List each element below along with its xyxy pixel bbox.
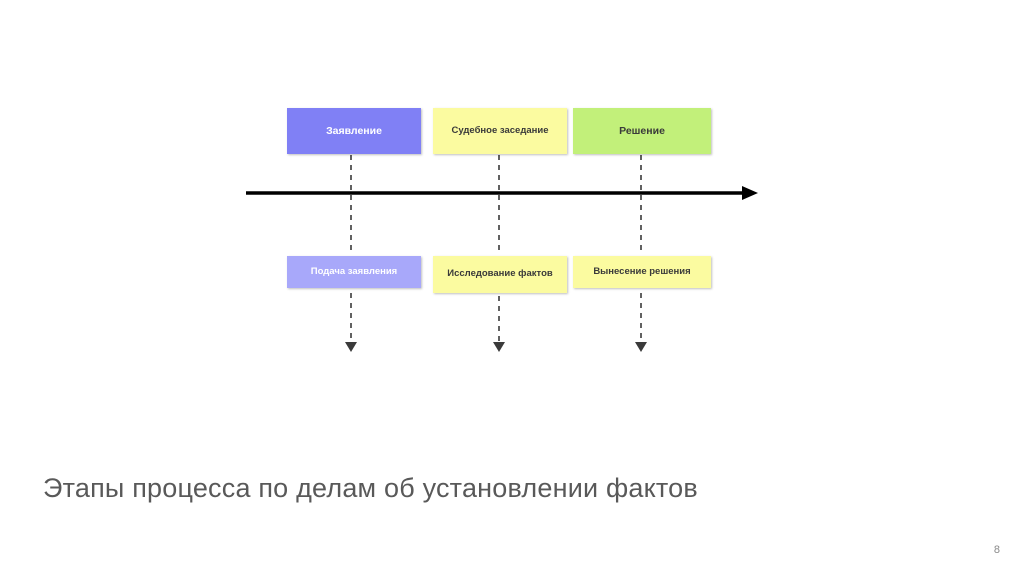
node-sudebnoe-zasedanie[interactable]: Судебное заседание [433,108,567,154]
node-vynesenie-resheniya[interactable]: Вынесение решения [573,256,711,288]
node-label: Вынесение решения [573,267,711,278]
node-label: Судебное заседание [433,126,567,137]
node-label: Решение [573,125,711,137]
node-issledovanie-faktov[interactable]: Исследование фактов [433,256,567,293]
node-label: Подача заявления [287,267,421,278]
slide: Заявление Судебное заседание Решение Под… [0,0,1024,574]
node-reshenie[interactable]: Решение [573,108,711,154]
node-podacha-zayavleniya[interactable]: Подача заявления [287,256,421,288]
page-title: Этапы процесса по делам об установлении … [43,470,743,506]
node-label: Исследование фактов [433,269,567,280]
page-number: 8 [994,544,1000,556]
node-label: Заявление [287,125,421,137]
node-zayavlenie[interactable]: Заявление [287,108,421,154]
process-diagram: Заявление Судебное заседание Решение Под… [0,0,1024,400]
